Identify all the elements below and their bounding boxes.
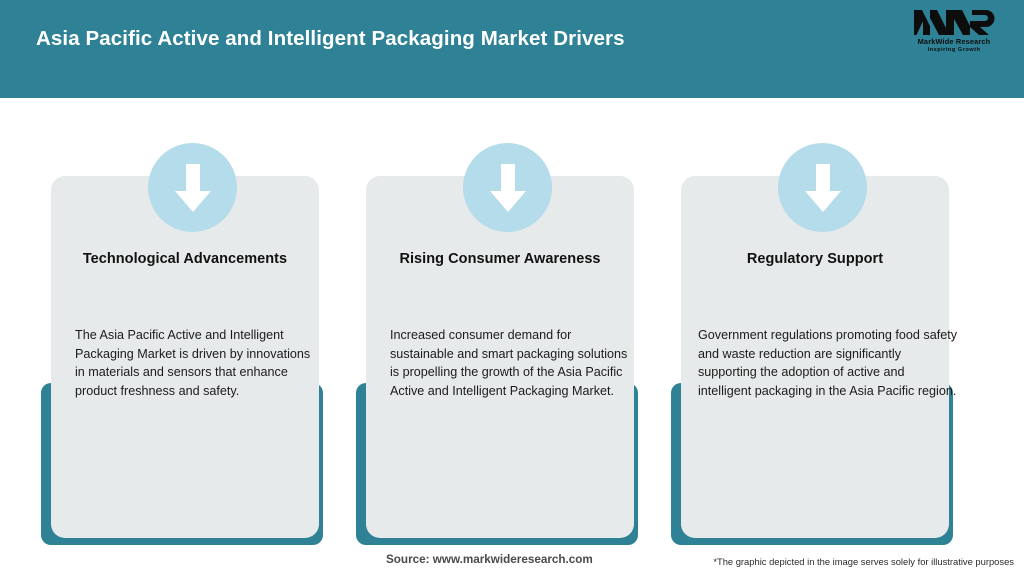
card-title: Regulatory Support [681,251,949,267]
down-arrow-icon [463,143,552,232]
brand-logo: MarkWide Research Inspiring Growth [906,8,1002,60]
down-arrow-icon [148,143,237,232]
driver-card[interactable]: Regulatory Support Government regulation… [668,98,956,538]
driver-cards-container: Technological Advancements The Asia Paci… [0,98,1024,538]
logo-tagline: Inspiring Growth [906,47,1002,53]
card-description: Increased consumer demand for sustainabl… [390,326,630,401]
driver-card[interactable]: Rising Consumer Awareness Increased cons… [353,98,641,538]
card-title: Rising Consumer Awareness [366,251,634,267]
driver-card[interactable]: Technological Advancements The Asia Paci… [38,98,326,538]
header-bar: Asia Pacific Active and Intelligent Pack… [0,0,1024,98]
page-title: Asia Pacific Active and Intelligent Pack… [36,27,625,51]
logo-company-name: MarkWide Research [906,37,1002,46]
card-description: Government regulations promoting food sa… [698,326,960,401]
logo-monogram-icon [906,8,1002,36]
source-attribution: Source: www.markwideresearch.com [386,553,593,566]
card-title: Technological Advancements [51,251,319,267]
disclaimer-note: *The graphic depicted in the image serve… [713,556,1014,567]
down-arrow-icon [778,143,867,232]
card-description: The Asia Pacific Active and Intelligent … [75,326,315,401]
